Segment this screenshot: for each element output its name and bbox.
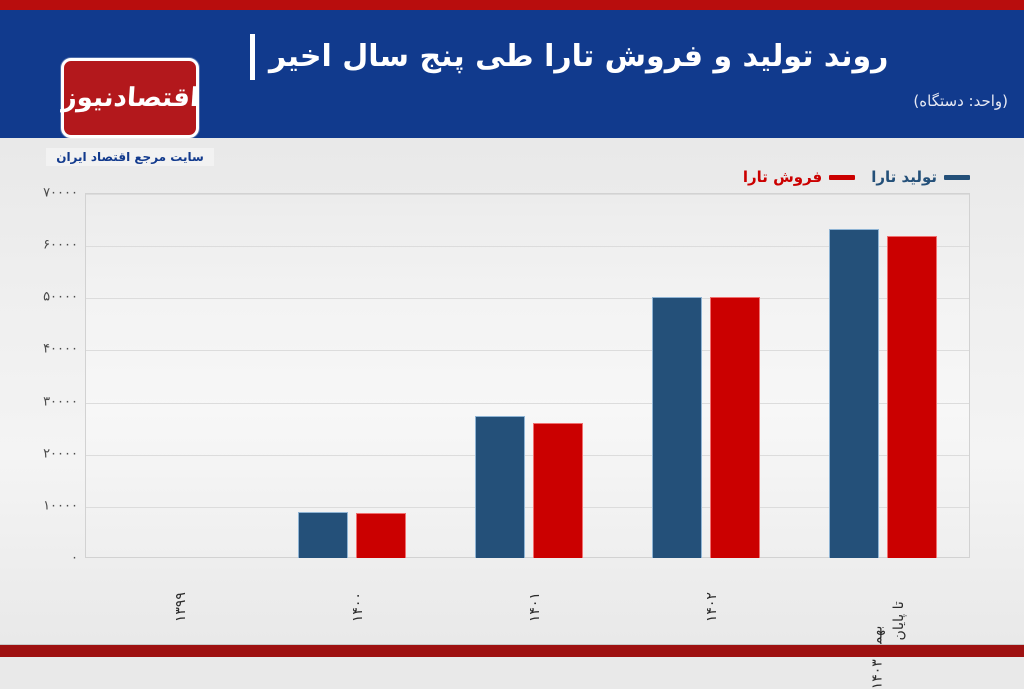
top-red-strip (0, 0, 1024, 10)
gridline (86, 507, 969, 508)
gridline (86, 350, 969, 351)
logo-box: اقتصادنیوز (61, 58, 199, 138)
page-root: اقتصادنیوز سایت مرجع اقتصاد ایران روند ت… (0, 0, 1024, 657)
y-tick-label: ۰ (8, 551, 78, 566)
legend-item-production[interactable]: تولید تارا (871, 168, 970, 186)
x-tick-label-2: ۱۴۰۱ (528, 592, 544, 622)
legend-item-sales[interactable]: فروش تارا (743, 168, 855, 186)
logo-text: اقتصادنیوز (60, 83, 199, 113)
legend-swatch-icon (829, 175, 855, 180)
title-row: روند تولید و فروش تارا طی پنج سال اخیر (250, 34, 1008, 80)
page-title: روند تولید و فروش تارا طی پنج سال اخیر (269, 40, 888, 75)
y-tick-label: ۶۰۰۰۰ (8, 238, 78, 253)
logo: اقتصادنیوز سایت مرجع اقتصاد ایران (40, 58, 220, 166)
gridline (86, 298, 969, 299)
x-tick-label-1: ۱۴۰۰ (351, 592, 367, 622)
legend-label: فروش تارا (743, 168, 822, 186)
y-tick-label: ۴۰۰۰۰ (8, 342, 78, 357)
plot-area (85, 193, 970, 558)
gridline (86, 194, 969, 195)
x-tick-label-4: بهمن ۱۴۰۳ (870, 626, 886, 689)
y-tick-label: ۳۰۰۰۰ (8, 394, 78, 409)
y-tick-label: ۲۰۰۰۰ (8, 446, 78, 461)
y-axis: ۰۱۰۰۰۰۲۰۰۰۰۳۰۰۰۰۴۰۰۰۰۵۰۰۰۰۶۰۰۰۰۷۰۰۰۰ (0, 193, 78, 558)
gridline (86, 455, 969, 456)
y-tick-label: ۵۰۰۰۰ (8, 290, 78, 305)
logo-tagline: سایت مرجع اقتصاد ایران (46, 148, 214, 166)
legend-swatch-icon (944, 175, 970, 180)
title-accent-bar (250, 34, 255, 80)
header-text-block: روند تولید و فروش تارا طی پنج سال اخیر (… (250, 18, 1008, 110)
chart-unit-subtitle: (واحد: دستگاه) (250, 92, 1008, 110)
y-tick-label: ۷۰۰۰۰ (8, 186, 78, 201)
gridline (86, 403, 969, 404)
chart-legend: تولید تارافروش تارا (743, 168, 970, 186)
x-tick-label-3: ۱۴۰۲ (705, 592, 721, 622)
x-tick-label-4: تا پایان (892, 601, 908, 640)
gridline (86, 246, 969, 247)
bottom-red-strip (0, 644, 1024, 657)
x-axis-labels: ۱۳۹۹۱۴۰۰۱۴۰۱۱۴۰۲تا پایانبهمن ۱۴۰۳ (85, 560, 970, 655)
y-tick-label: ۱۰۰۰۰ (8, 498, 78, 513)
x-tick-label-0: ۱۳۹۹ (174, 592, 190, 622)
chart-header: اقتصادنیوز سایت مرجع اقتصاد ایران روند ت… (0, 10, 1024, 138)
legend-label: تولید تارا (871, 168, 937, 186)
